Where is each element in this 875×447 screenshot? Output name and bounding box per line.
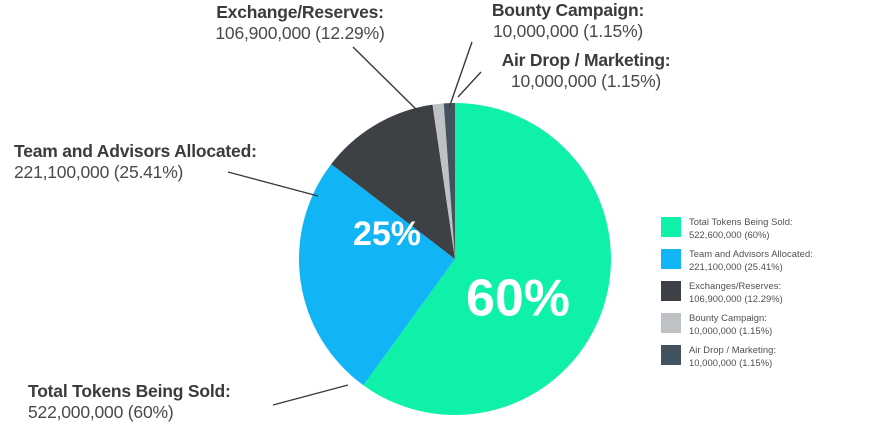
legend-item-value: 10,000,000 (1.15%) (689, 325, 772, 338)
leader-line-total-tokens (273, 385, 348, 405)
legend-item[interactable]: Air Drop / Marketing:10,000,000 (1.15%) (661, 344, 871, 369)
leader-line-air-drop-marketing (458, 72, 481, 97)
chart-legend: Total Tokens Being Sold:522,600,000 (60%… (661, 216, 871, 369)
pie-slices-group (299, 103, 611, 415)
pie-chart-figure: Exchange/Reserves: 106,900,000 (12.29%) … (0, 0, 875, 447)
legend-item[interactable]: Exchanges/Reserves:106,900,000 (12.29%) (661, 280, 871, 305)
legend-item[interactable]: Bounty Campaign:10,000,000 (1.15%) (661, 312, 871, 337)
legend-item-value: 10,000,000 (1.15%) (689, 357, 776, 370)
legend-item-name: Exchanges/Reserves: (689, 280, 783, 293)
legend-swatch-bounty-campaign (661, 313, 681, 333)
leader-line-bounty-campaign (449, 42, 472, 108)
legend-item-text: Total Tokens Being Sold:522,600,000 (60%… (689, 216, 793, 241)
legend-swatch-exchanges-reserves (661, 281, 681, 301)
slice-label-60-percent: 60% (466, 270, 570, 328)
legend-item-text: Bounty Campaign:10,000,000 (1.15%) (689, 312, 772, 337)
leader-line-team-advisors (228, 172, 318, 196)
legend-swatch-total-tokens (661, 217, 681, 237)
legend-swatch-air-drop-marketing (661, 345, 681, 365)
legend-item-text: Exchanges/Reserves:106,900,000 (12.29%) (689, 280, 783, 305)
legend-item-name: Air Drop / Marketing: (689, 344, 776, 357)
legend-item-name: Team and Advisors Allocated: (689, 248, 813, 261)
legend-item-text: Air Drop / Marketing:10,000,000 (1.15%) (689, 344, 776, 369)
legend-item-name: Bounty Campaign: (689, 312, 772, 325)
legend-item-value: 522,600,000 (60%) (689, 229, 793, 242)
legend-item-name: Total Tokens Being Sold: (689, 216, 793, 229)
legend-item-value: 221,100,000 (25.41%) (689, 261, 813, 274)
legend-item[interactable]: Team and Advisors Allocated:221,100,000 … (661, 248, 871, 273)
legend-item-value: 106,900,000 (12.29%) (689, 293, 783, 306)
leader-line-exchange-reserves (353, 47, 422, 115)
legend-swatch-team-advisors (661, 249, 681, 269)
legend-item-text: Team and Advisors Allocated:221,100,000 … (689, 248, 813, 273)
slice-label-25-percent: 25% (353, 215, 421, 253)
legend-item[interactable]: Total Tokens Being Sold:522,600,000 (60%… (661, 216, 871, 241)
